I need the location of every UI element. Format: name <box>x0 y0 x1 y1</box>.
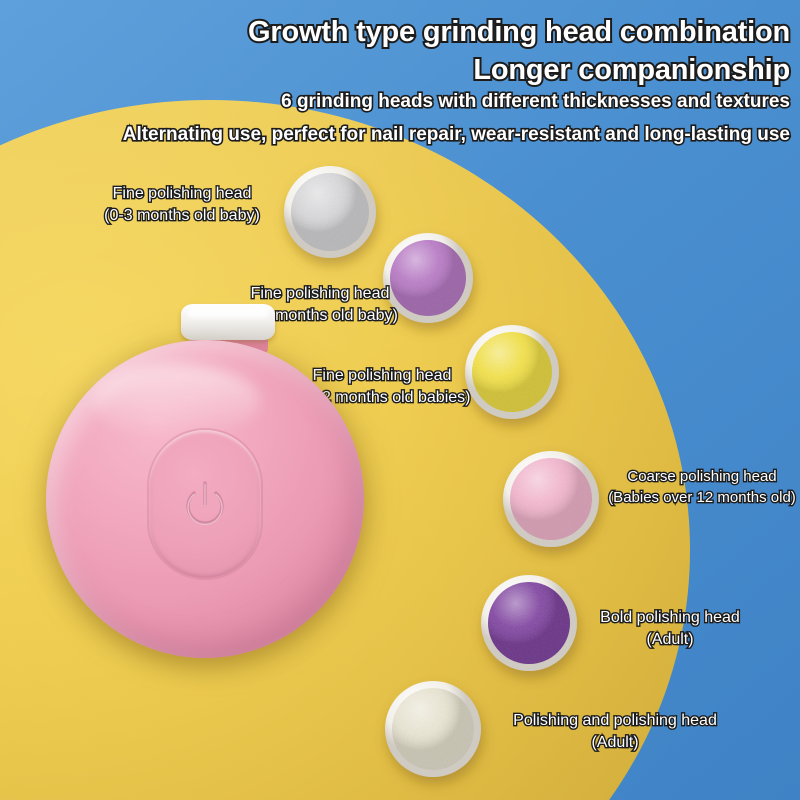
label-head-6-subtitle: (Adult) <box>495 732 735 754</box>
device-white-cap <box>181 304 275 340</box>
label-head-6: Polishing and polishing head (Adult) <box>495 710 735 755</box>
device-highlight <box>92 364 260 438</box>
subhead-line-1: 6 grinding heads with different thicknes… <box>0 89 790 115</box>
label-head-1-subtitle: (0-3 months old baby) <box>52 205 312 227</box>
nail-trimmer-device <box>38 300 368 670</box>
label-head-1-title: Fine polishing head <box>52 183 312 205</box>
label-head-5: Bold polishing head (Adult) <box>575 607 765 652</box>
power-icon <box>174 473 236 535</box>
label-head-4: Coarse polishing head (Babies over 12 mo… <box>602 466 800 508</box>
label-head-4-subtitle: (Babies over 12 months old) <box>602 487 800 508</box>
label-head-5-title: Bold polishing head <box>575 607 765 629</box>
label-head-6-title: Polishing and polishing head <box>495 710 735 732</box>
subhead-line-2: Alternating use, perfect for nail repair… <box>0 122 790 148</box>
label-head-5-subtitle: (Adult) <box>575 629 765 651</box>
headline-line-2: Longer companionship <box>0 52 790 90</box>
label-head-1: Fine polishing head (0-3 months old baby… <box>52 183 312 228</box>
product-infographic: Growth type grinding head combination Lo… <box>0 0 800 800</box>
label-head-4-title: Coarse polishing head <box>602 466 800 487</box>
subhead-line-2-wrap: Alternating use, perfect for nail repair… <box>0 122 790 148</box>
subhead-line-1-wrap: 6 grinding heads with different thicknes… <box>0 89 790 115</box>
device-body <box>46 340 364 658</box>
headline-block: Growth type grinding head combination Lo… <box>0 14 790 89</box>
power-button[interactable] <box>149 430 261 578</box>
headline-line-1: Growth type grinding head combination <box>0 14 790 52</box>
